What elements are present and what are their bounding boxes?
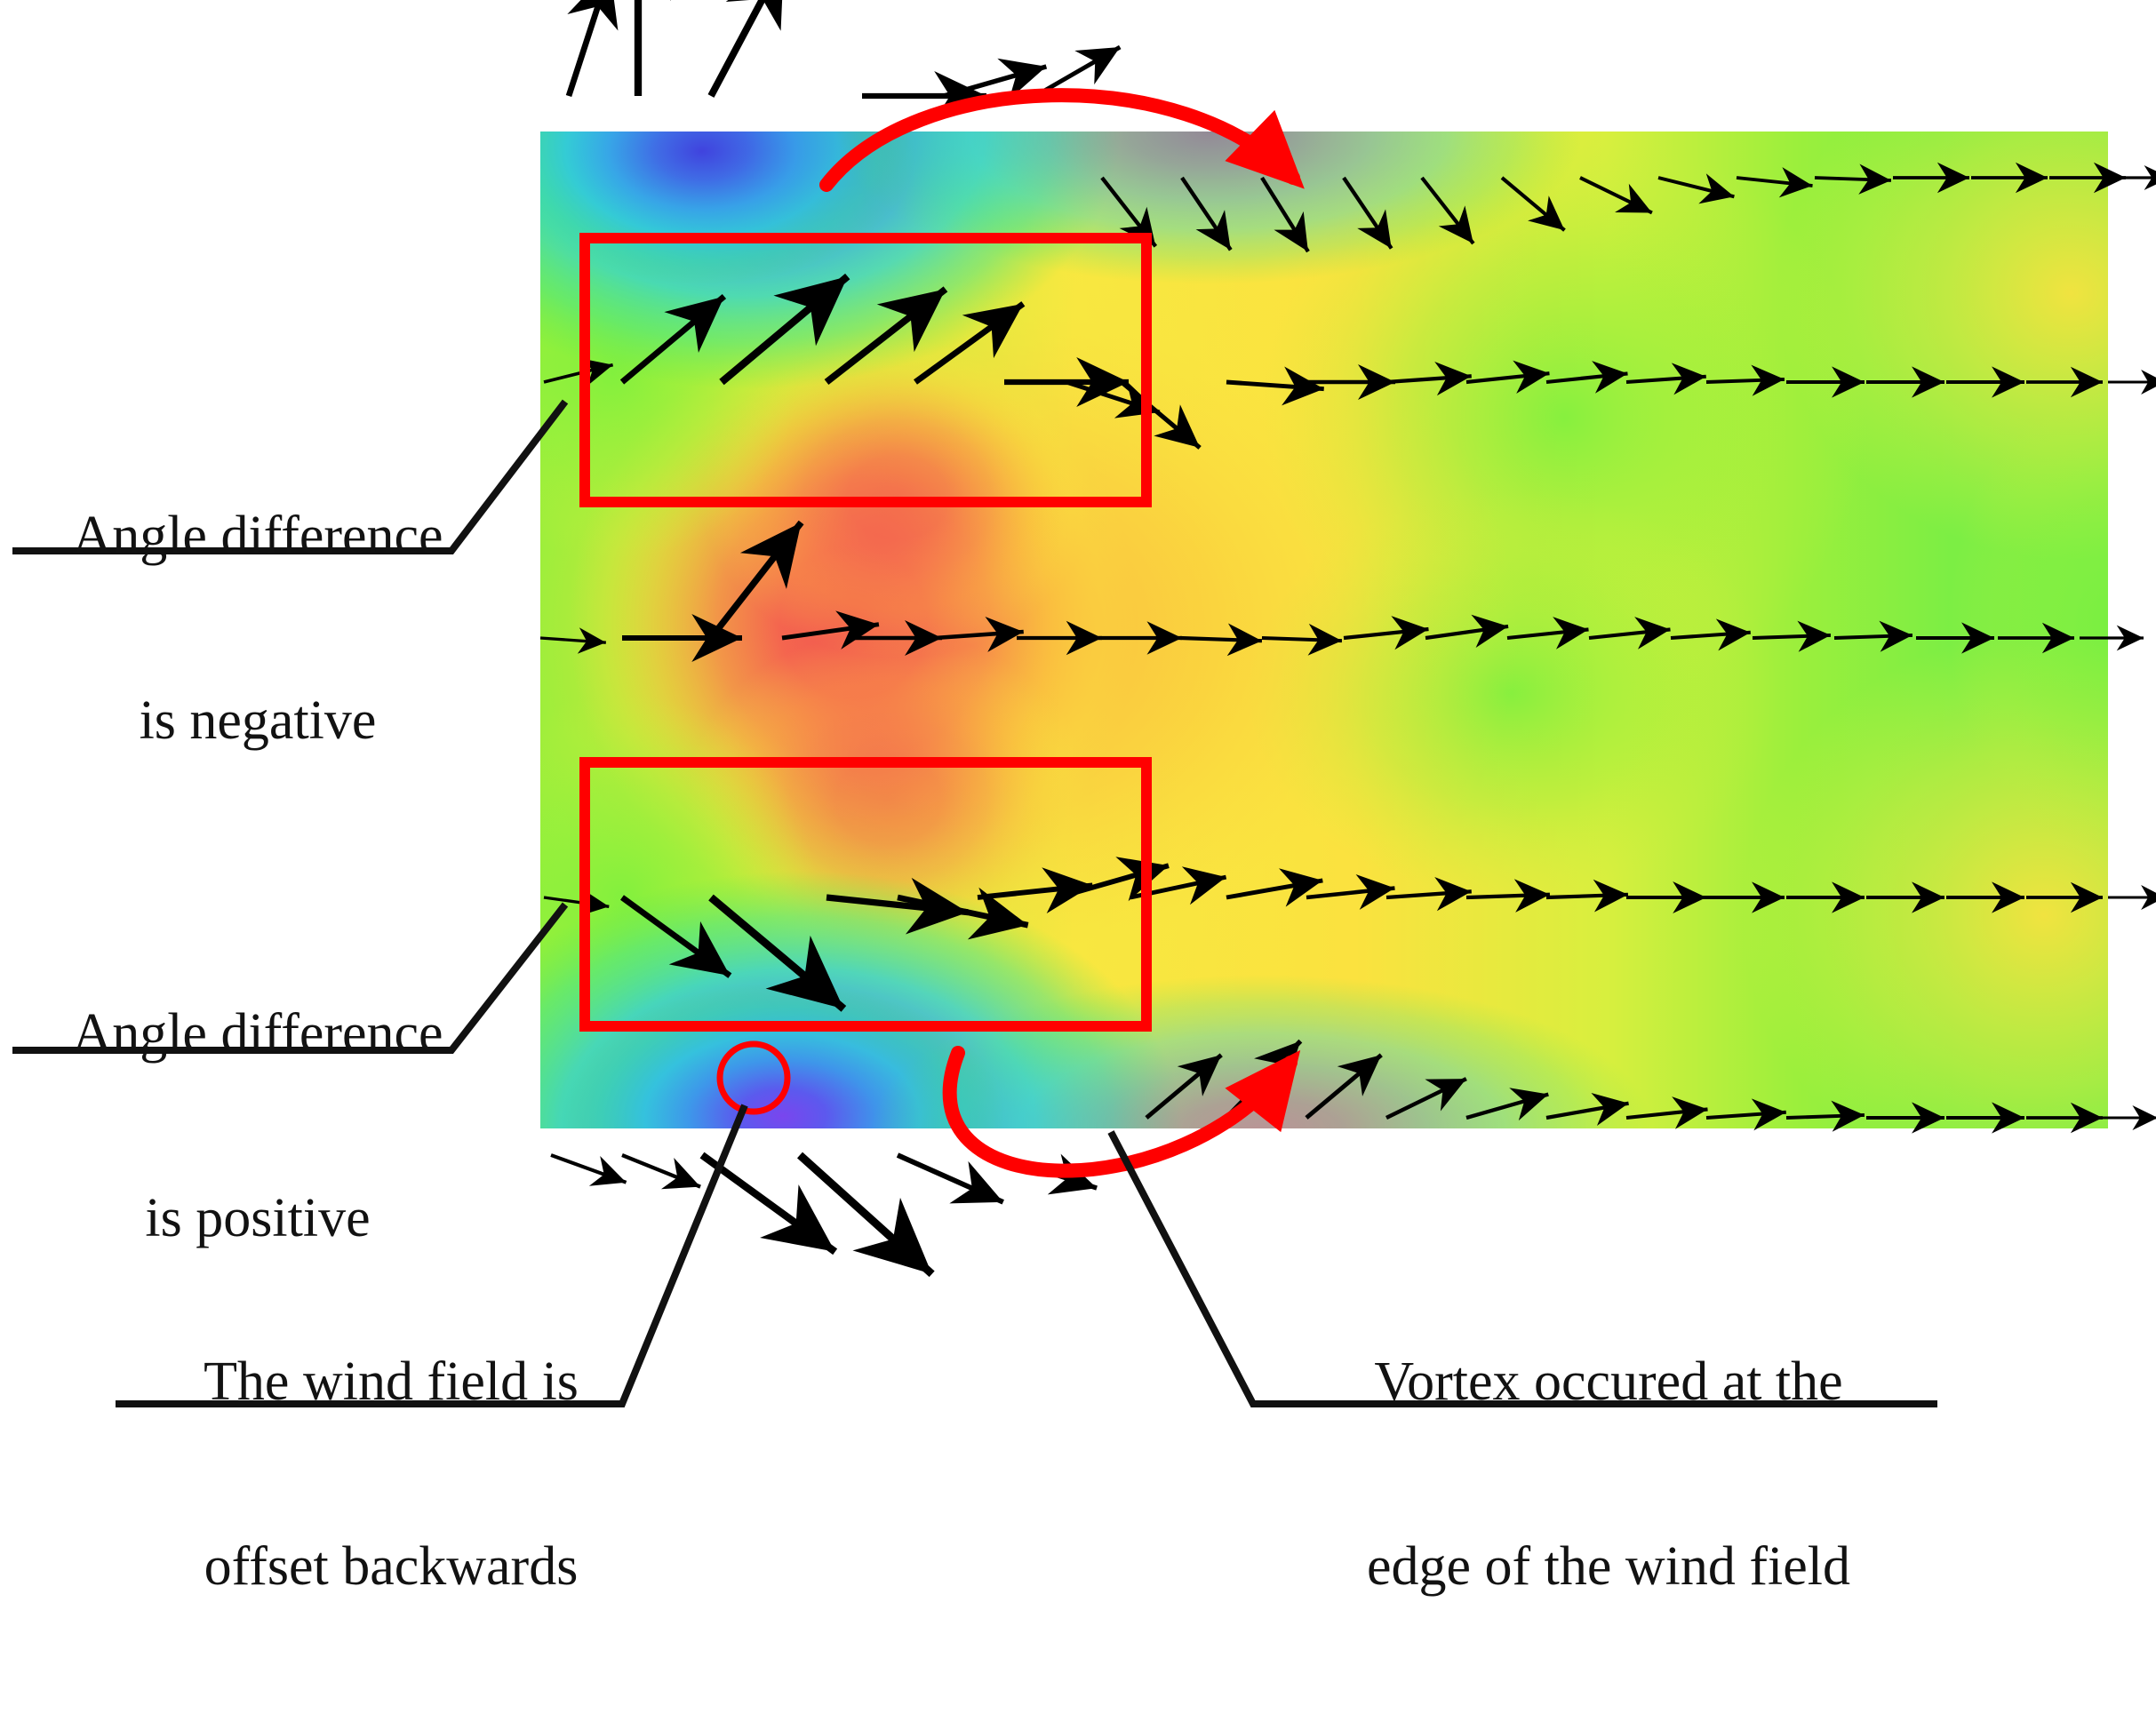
annotation-vortex-edge: Vortex occured at the edge of the wind f… [1271, 1228, 1946, 1722]
annotation-line-1: Angle difference [9, 506, 507, 567]
annotation-line-2: edge of the wind field [1271, 1536, 1946, 1598]
annotation-line-2: offset backwards [124, 1536, 658, 1598]
annotation-line-1: Angle difference [9, 1003, 507, 1064]
annotation-angle-negative: Angle difference is negative [9, 382, 507, 876]
annotation-line-2: is negative [9, 690, 507, 752]
annotation-line-1: The wind field is [124, 1351, 658, 1413]
figure-canvas: Angle difference is negative Angle diffe… [0, 0, 2156, 1416]
annotation-line-1: Vortex occured at the [1271, 1351, 1946, 1413]
annotation-offset-backwards: The wind field is offset backwards [124, 1228, 658, 1722]
